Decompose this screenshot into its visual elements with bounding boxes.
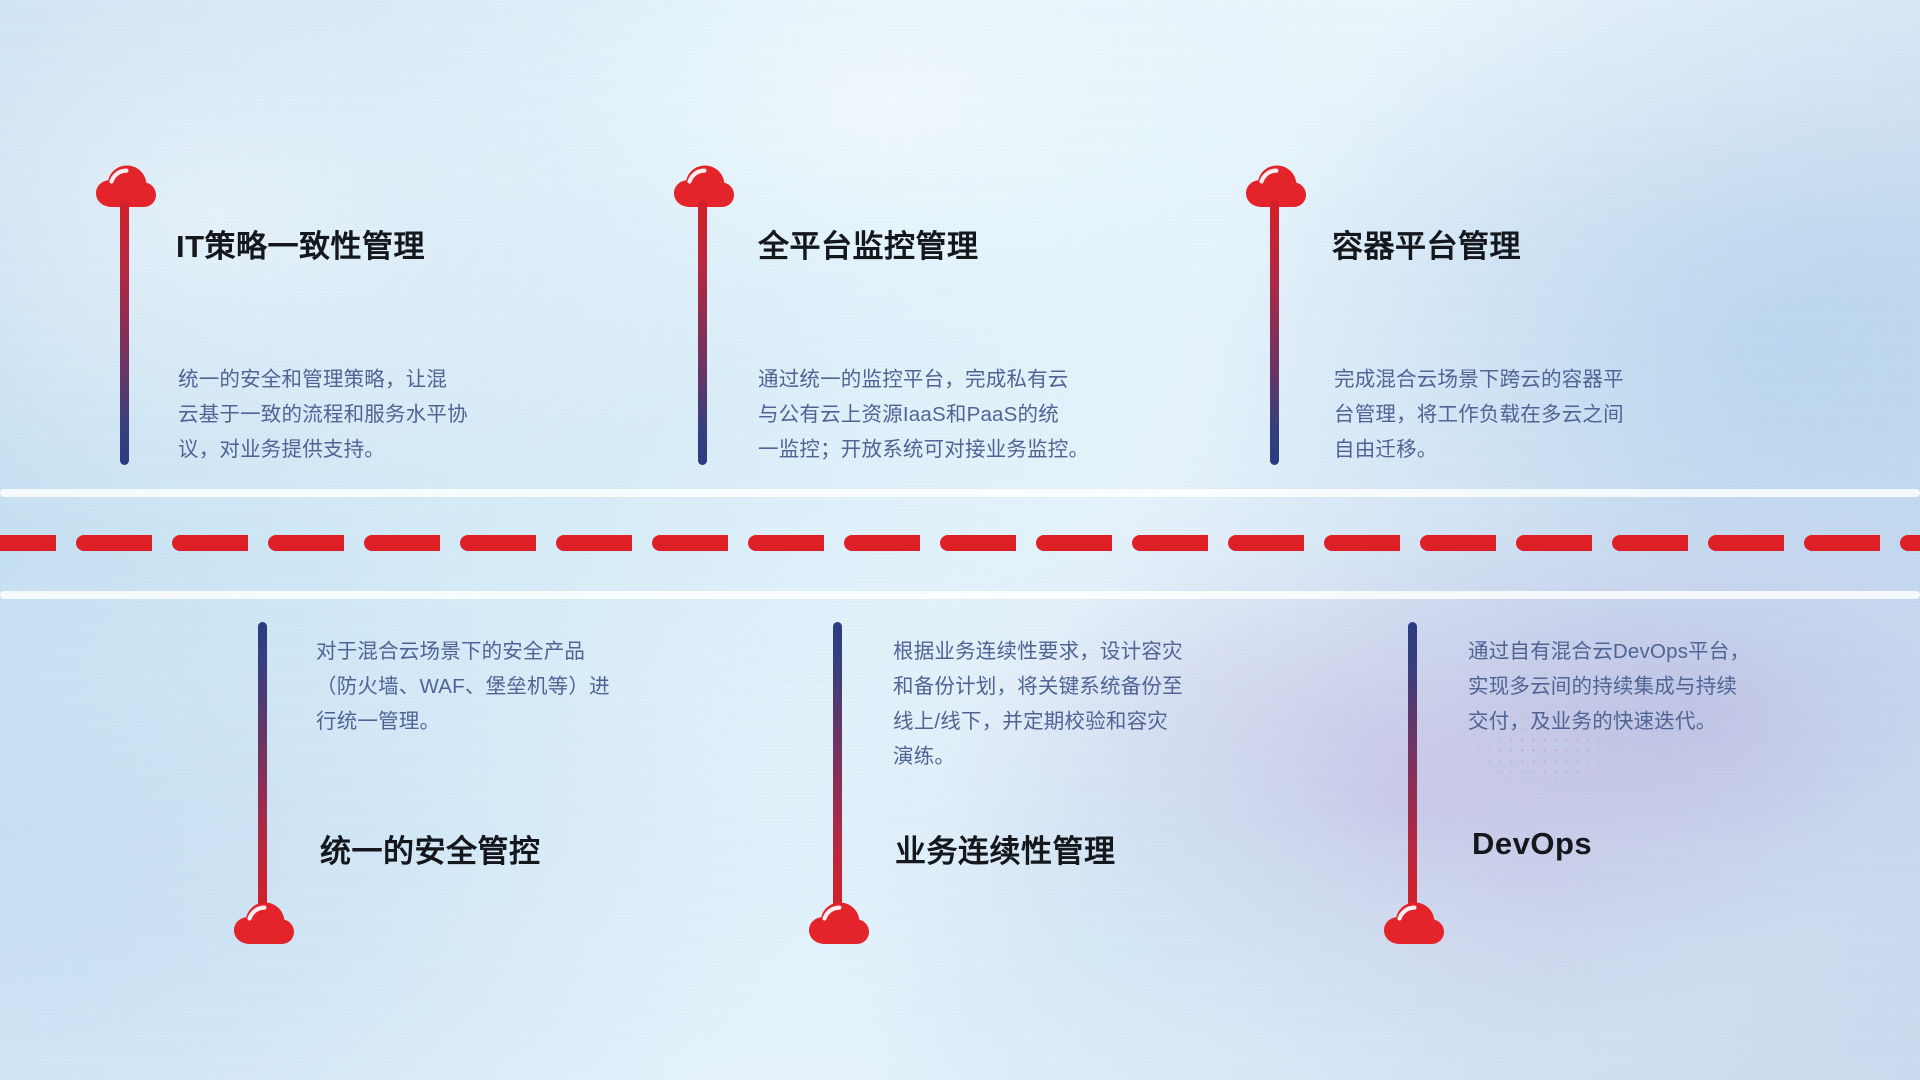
description-line: 线上/线下，并定期校验和容灾: [893, 704, 1323, 739]
description-line: 交付，及业务的快速迭代。: [1468, 704, 1888, 739]
description-line: 与公有云上资源IaaS和PaaS的统: [758, 397, 1198, 432]
description-line: 行统一管理。: [316, 704, 746, 739]
node-description: 根据业务连续性要求，设计容灾 和备份计划，将关键系统备份至 线上/线下，并定期校…: [893, 634, 1323, 774]
description-line: 统一的安全和管理策略，让混: [178, 362, 608, 397]
node-title: 容器平台管理: [1332, 221, 1521, 266]
connector-stem: [833, 622, 842, 912]
description-line: 通过统一的监控平台，完成私有云: [758, 362, 1198, 397]
node-title: 业务连续性管理: [895, 826, 1116, 871]
description-line: （防火墙、WAF、堡垒机等）进: [316, 669, 746, 704]
description-line: 对于混合云场景下的安全产品: [316, 634, 746, 669]
description-line: 议，对业务提供支持。: [178, 432, 608, 467]
connector-stem: [698, 200, 707, 465]
description-line: 和备份计划，将关键系统备份至: [893, 669, 1323, 704]
divider-rule-top: [0, 489, 1920, 497]
description-line: 通过自有混合云DevOps平台，: [1468, 634, 1888, 669]
description-line: 完成混合云场景下跨云的容器平: [1334, 362, 1764, 397]
node-description: 完成混合云场景下跨云的容器平 台管理，将工作负载在多云之间 自由迁移。: [1334, 362, 1764, 467]
description-line: 云基于一致的流程和服务水平协: [178, 397, 608, 432]
node-description: 通过统一的监控平台，完成私有云 与公有云上资源IaaS和PaaS的统 一监控；开…: [758, 362, 1198, 467]
description-line: 根据业务连续性要求，设计容灾: [893, 634, 1323, 669]
divider-rule-bottom: [0, 591, 1920, 599]
cloud-icon: [233, 900, 295, 946]
cloud-icon: [808, 900, 870, 946]
connector-stem: [1408, 622, 1417, 912]
description-line: 自由迁移。: [1334, 432, 1764, 467]
node-title: 全平台监控管理: [758, 221, 979, 266]
node-description: 统一的安全和管理策略，让混 云基于一致的流程和服务水平协 议，对业务提供支持。: [178, 362, 608, 467]
node-description: 通过自有混合云DevOps平台， 实现多云间的持续集成与持续 交付，及业务的快速…: [1468, 634, 1888, 739]
node-description: 对于混合云场景下的安全产品 （防火墙、WAF、堡垒机等）进 行统一管理。: [316, 634, 746, 739]
node-title: DevOps: [1472, 826, 1592, 862]
connector-stem: [258, 622, 267, 912]
connector-stem: [120, 200, 129, 465]
description-line: 演练。: [893, 739, 1323, 774]
node-title: IT策略一致性管理: [176, 221, 425, 266]
description-line: 台管理，将工作负载在多云之间: [1334, 397, 1764, 432]
description-line: 实现多云间的持续集成与持续: [1468, 669, 1888, 704]
node-title: 统一的安全管控: [320, 826, 541, 871]
infographic-canvas: IT策略一致性管理 统一的安全和管理策略，让混 云基于一致的流程和服务水平协 议…: [0, 0, 1920, 1080]
divider-dashed-line: [0, 535, 1920, 551]
divider: [0, 489, 1920, 599]
cloud-icon: [1383, 900, 1445, 946]
description-line: 一监控；开放系统可对接业务监控。: [758, 432, 1198, 467]
connector-stem: [1270, 200, 1279, 465]
